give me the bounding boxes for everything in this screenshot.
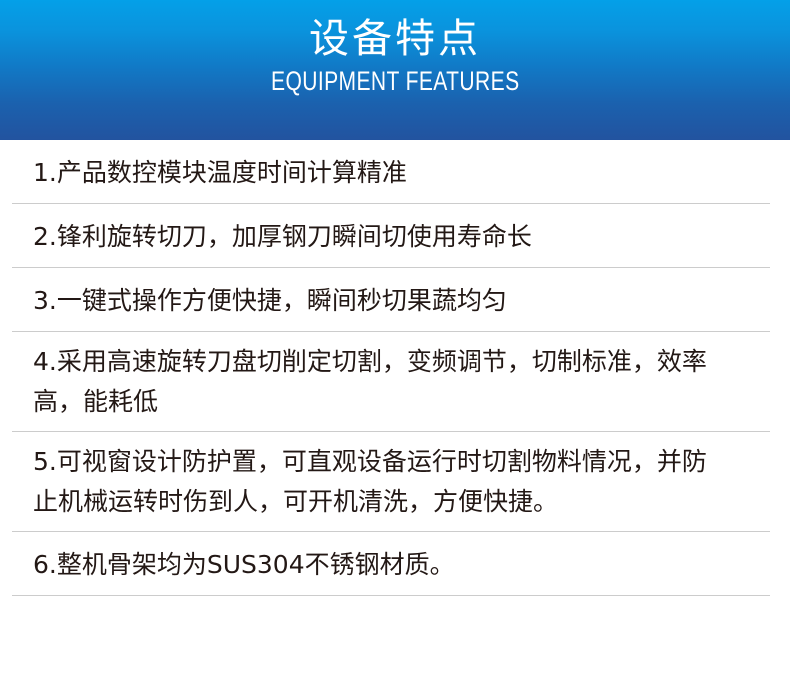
feature-item-text: 6.整机骨架均为SUS304不锈钢材质。 bbox=[33, 547, 455, 582]
bottom-spacer bbox=[0, 596, 790, 636]
feature-item-text: 2.锋利旋转切刀，加厚钢刀瞬间切使用寿命长 bbox=[33, 219, 532, 254]
feature-item-text: 3.一键式操作方便快捷，瞬间秒切果蔬均匀 bbox=[33, 283, 507, 318]
feature-item-text: 4.采用高速旋转刀盘切削定切割，变频调节，切制标准，效率 高，能耗低 bbox=[33, 342, 707, 422]
feature-item-text: 1.产品数控模块温度时间计算精准 bbox=[33, 155, 407, 190]
feature-item-6: 6.整机骨架均为SUS304不锈钢材质。 bbox=[0, 532, 790, 596]
feature-list: 1.产品数控模块温度时间计算精准 2.锋利旋转切刀，加厚钢刀瞬间切使用寿命长 3… bbox=[0, 140, 790, 596]
feature-item-text: 5.可视窗设计防护置，可直观设备运行时切割物料情况，并防 止机械运转时伤到人，可… bbox=[33, 442, 707, 522]
feature-item-1: 1.产品数控模块温度时间计算精准 bbox=[0, 140, 790, 204]
page-banner: 设备特点 EQUIPMENT FEATURES bbox=[0, 0, 790, 140]
feature-item-3: 3.一键式操作方便快捷，瞬间秒切果蔬均匀 bbox=[0, 268, 790, 332]
banner-title-chinese: 设备特点 bbox=[309, 14, 481, 64]
feature-item-2: 2.锋利旋转切刀，加厚钢刀瞬间切使用寿命长 bbox=[0, 204, 790, 268]
equipment-features-page: 设备特点 EQUIPMENT FEATURES 1.产品数控模块温度时间计算精准… bbox=[0, 0, 790, 676]
feature-item-5: 5.可视窗设计防护置，可直观设备运行时切割物料情况，并防 止机械运转时伤到人，可… bbox=[0, 432, 790, 532]
banner-subtitle-english: EQUIPMENT FEATURES bbox=[271, 65, 519, 97]
feature-item-4: 4.采用高速旋转刀盘切削定切割，变频调节，切制标准，效率 高，能耗低 bbox=[0, 332, 790, 432]
feature-divider bbox=[12, 595, 770, 596]
